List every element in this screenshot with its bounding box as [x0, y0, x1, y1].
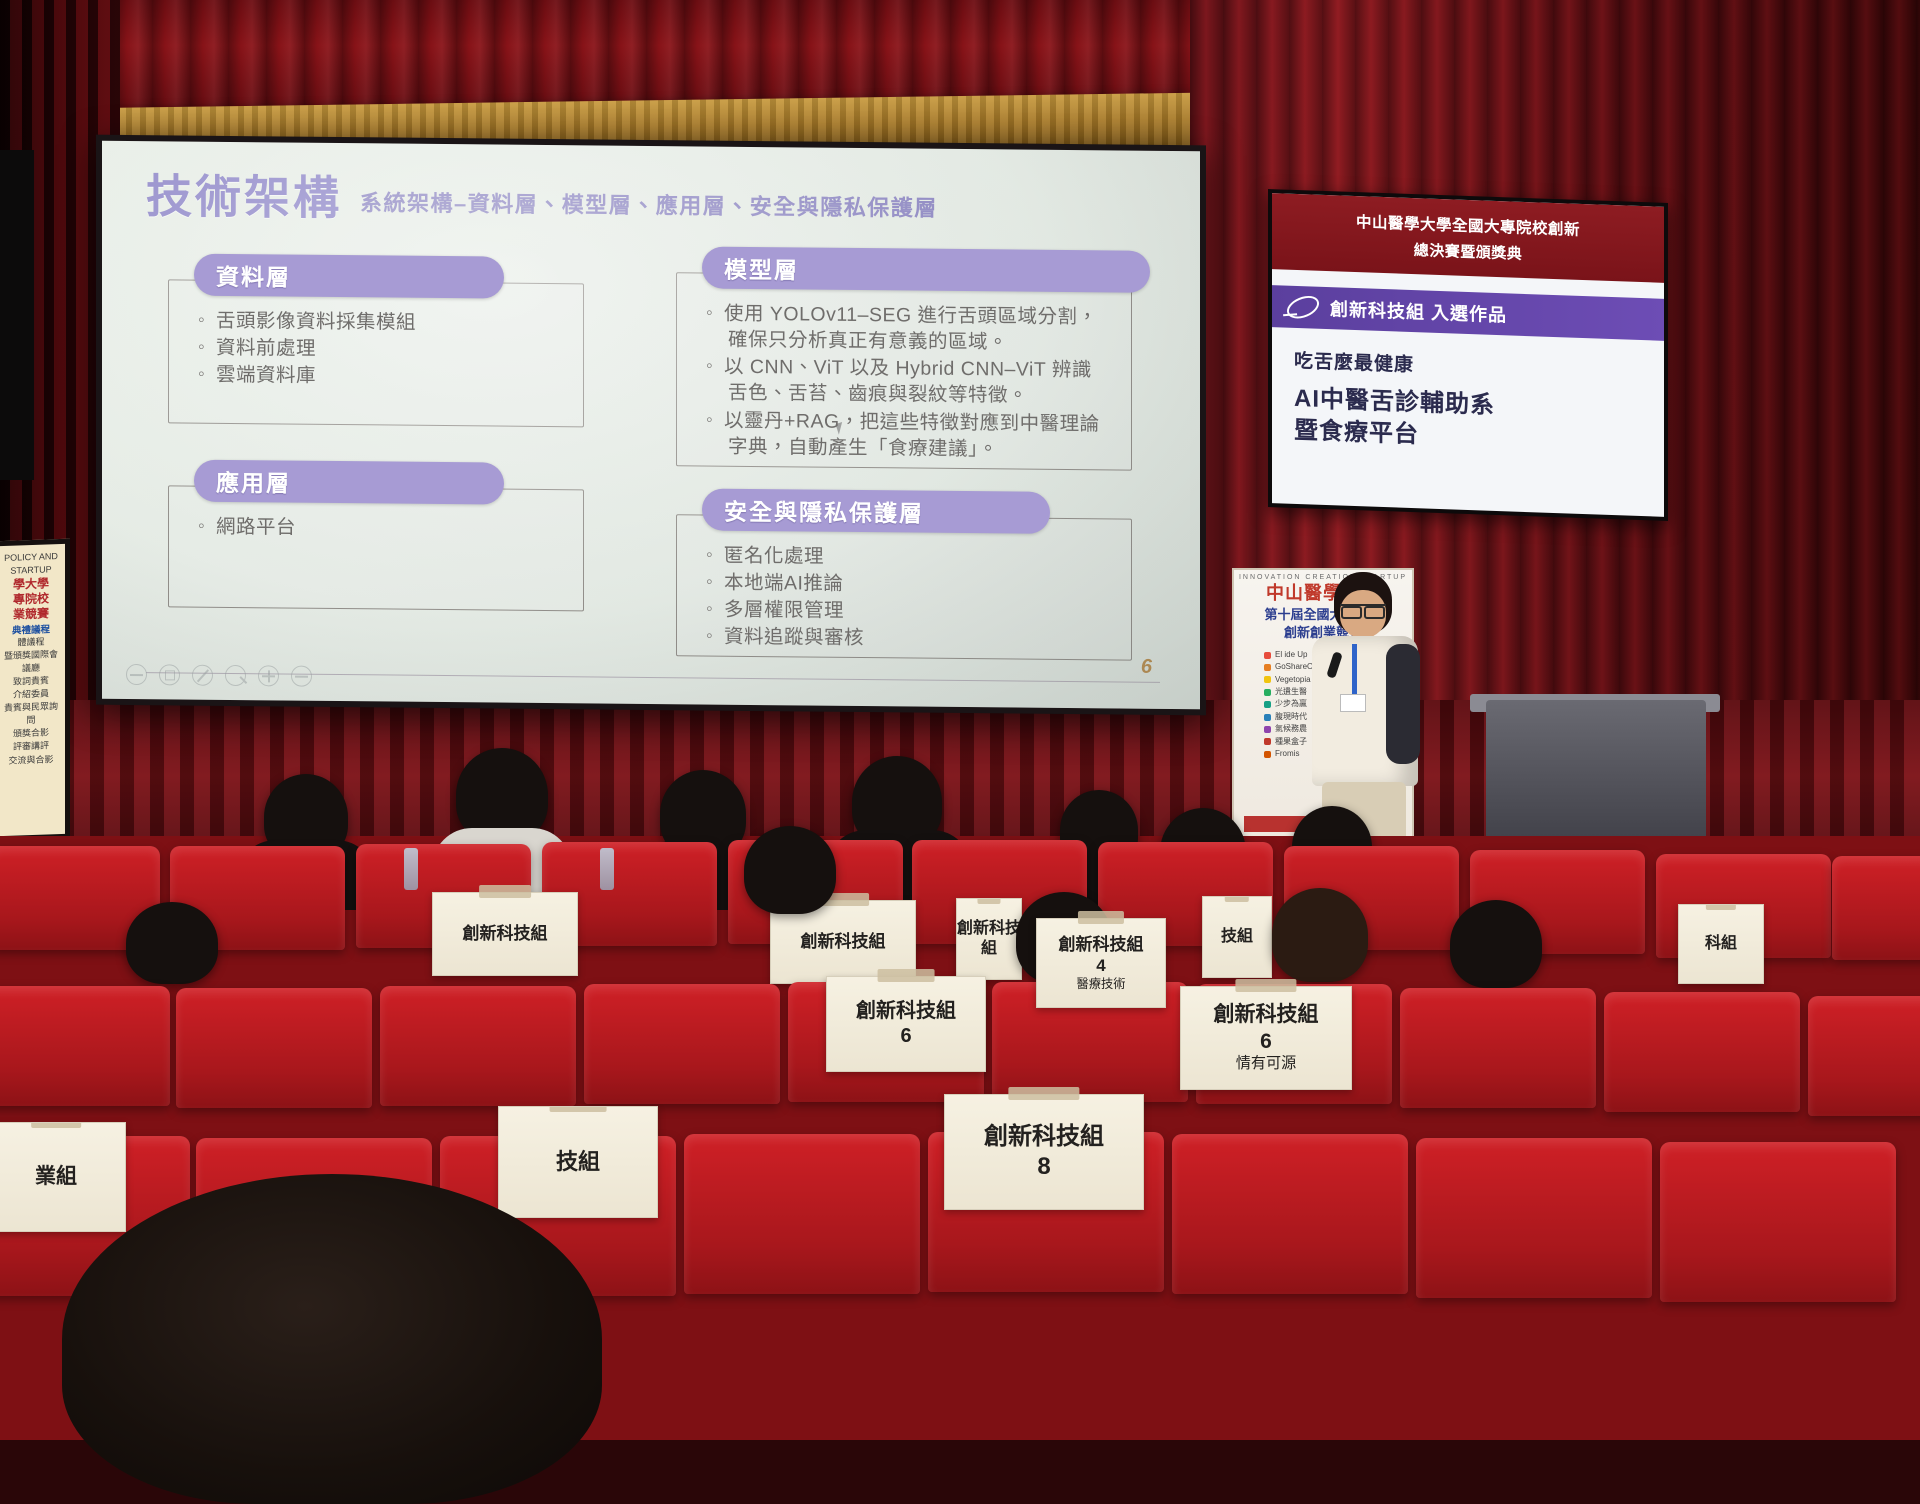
- seat: [1832, 856, 1920, 960]
- lanyard: [1352, 644, 1357, 696]
- placard: 創新科技組: [956, 898, 1022, 980]
- list-item: 使用 YOLOv11–SEG 進行舌頭區域分割， 確保只分析真正有意義的區域。: [706, 301, 1114, 357]
- panel-header-security-layer: 安全與隱私保護層: [702, 488, 1050, 533]
- panel-list-security-layer: 匿名化處理 本地端AI推論 多層權限管理 資料追蹤與審核: [706, 543, 1114, 655]
- placard: 業組: [0, 1122, 126, 1232]
- water-bottle: [404, 848, 418, 890]
- poster-header: POLICY AND STARTUP: [1, 550, 61, 578]
- list-item: 雲端資料庫: [198, 362, 566, 392]
- panel-security-privacy-layer: 安全與隱私保護層 匿名化處理 本地端AI推論 多層權限管理 資料追蹤與審核: [662, 488, 1132, 661]
- seat: [684, 1134, 920, 1294]
- side-header-line1: 中山醫學大學全國大專院校創新: [1356, 210, 1580, 240]
- slide-subtitle: 系統架構–資料層、模型層、應用層、安全與隱私保護層: [360, 185, 938, 227]
- seat: [1604, 992, 1800, 1112]
- projection-screen: 技術架構 系統架構–資料層、模型層、應用層、安全與隱私保護層 資料層 舌頭影像資…: [96, 135, 1206, 716]
- page-number: 6: [1141, 656, 1152, 679]
- panel-application-layer: 應用層 網路平台: [154, 459, 584, 611]
- placard: 創新科技組 6 情有可源: [1180, 986, 1352, 1090]
- eraser-icon[interactable]: [159, 664, 180, 685]
- placard: 創新科技組: [432, 892, 578, 976]
- presenter-sleeve: [1386, 644, 1420, 764]
- placard: 技組: [1202, 896, 1272, 978]
- seat: [1660, 1142, 1896, 1302]
- wall-shadow-left: [0, 150, 34, 480]
- water-bottle: [600, 848, 614, 890]
- laser-pointer-icon[interactable]: [225, 665, 246, 686]
- placard: 創新科技組 8: [944, 1094, 1144, 1210]
- side-header-line2: 總決賽暨頒獎典: [1414, 239, 1523, 264]
- zoom-out-icon[interactable]: [291, 666, 312, 687]
- pen-icon[interactable]: [126, 664, 147, 685]
- placard: 創新科技組 6: [826, 976, 986, 1072]
- glasses-icon: [1340, 604, 1386, 614]
- list-item: 本地端AI推論: [706, 570, 1114, 600]
- seat: [1416, 1138, 1652, 1298]
- panel-data-layer: 資料層 舌頭影像資料採集模組 資料前處理 雲端資料庫: [154, 253, 584, 427]
- side-monitor: 中山醫學大學全國大專院校創新 總決賽暨頒獎典 創新科技組 入選作品 吃舌麼最健康…: [1268, 189, 1668, 521]
- side-monitor-header: 中山醫學大學全國大專院校創新 總決賽暨頒獎典: [1272, 193, 1664, 283]
- poster-line: 交流與合影: [1, 752, 61, 767]
- zoom-in-icon[interactable]: [258, 665, 279, 686]
- left-wall-poster: POLICY AND STARTUP 學大學 專院校 業競賽 典禮議程 體議程 …: [0, 539, 70, 842]
- list-item: 舌頭影像資料採集模組: [198, 308, 566, 338]
- seat: [1172, 1134, 1408, 1294]
- presentation-slide: 技術架構 系統架構–資料層、模型層、應用層、安全與隱私保護層 資料層 舌頭影像資…: [102, 141, 1200, 710]
- seat: [584, 984, 780, 1104]
- highlighter-icon[interactable]: [192, 665, 213, 686]
- placard: 技組: [498, 1106, 658, 1218]
- auditorium-scene: 技術架構 系統架構–資料層、模型層、應用層、安全與隱私保護層 資料層 舌頭影像資…: [0, 0, 1920, 1440]
- side-monitor-slide: 中山醫學大學全國大專院校創新 總決賽暨頒獎典 創新科技組 入選作品 吃舌麼最健康…: [1272, 193, 1664, 517]
- list-item: 匿名化處理: [706, 543, 1114, 573]
- list-item: 網路平台: [198, 514, 566, 544]
- list-item: 多層權限管理: [706, 597, 1114, 627]
- panel-header-application-layer: 應用層: [194, 460, 504, 505]
- panel-list-model-layer: 使用 YOLOv11–SEG 進行舌頭區域分割， 確保只分析真正有意義的區域。 …: [706, 301, 1114, 465]
- seat: [176, 988, 372, 1108]
- panel-model-layer: 模型層 使用 YOLOv11–SEG 進行舌頭區域分割， 確保只分析真正有意義的…: [662, 246, 1132, 471]
- list-item: 以靈丹+RAG，把這些特徵對應到中醫理論 字典，自動產生「食療建議」。: [706, 407, 1114, 463]
- side-band-label: 創新科技組 入選作品: [1330, 295, 1507, 327]
- audience-head: [1450, 900, 1542, 988]
- seat: [0, 986, 170, 1106]
- panel-header-model-layer: 模型層: [702, 246, 1150, 292]
- placard: 創新科技組 4 醫療技術: [1036, 918, 1166, 1008]
- placard: 科組: [1678, 904, 1764, 984]
- panel-list-data-layer: 舌頭影像資料採集模組 資料前處理 雲端資料庫: [198, 308, 566, 393]
- panel-list-application-layer: 網路平台: [198, 514, 566, 545]
- foreground-audience-head: [62, 1174, 602, 1504]
- annotation-toolbar[interactable]: [126, 664, 312, 687]
- slide-header: 技術架構 系統架構–資料層、模型層、應用層、安全與隱私保護層: [146, 173, 938, 227]
- list-item: 資料追蹤與審核: [706, 624, 1114, 654]
- panel-header-data-layer: 資料層: [194, 254, 504, 299]
- seat: [1400, 988, 1596, 1108]
- name-badge: [1340, 694, 1366, 712]
- panel-outline: [168, 485, 584, 611]
- audience-head: [1272, 888, 1368, 982]
- ribbon-icon: [1283, 292, 1322, 323]
- audience-head: [126, 902, 218, 984]
- poster-line: 貴賓與民眾詢問: [1, 700, 61, 728]
- slide-title: 技術架構: [146, 173, 342, 221]
- side-monitor-body: 吃舌麼最健康 AI中醫舌診輔助系 暨食療平台: [1272, 327, 1664, 460]
- side-body-line1: 吃舌麼最健康: [1294, 346, 1664, 386]
- seat: [1808, 996, 1920, 1116]
- poster-line: 暨頒獎國際會議廳: [1, 648, 61, 676]
- audience-head: [744, 826, 836, 914]
- list-item: 以 CNN、ViT 以及 Hybrid CNN–ViT 辨識 舌色、舌苔、齒痕與…: [706, 354, 1114, 410]
- seat: [380, 986, 576, 1106]
- list-item: 資料前處理: [198, 335, 566, 365]
